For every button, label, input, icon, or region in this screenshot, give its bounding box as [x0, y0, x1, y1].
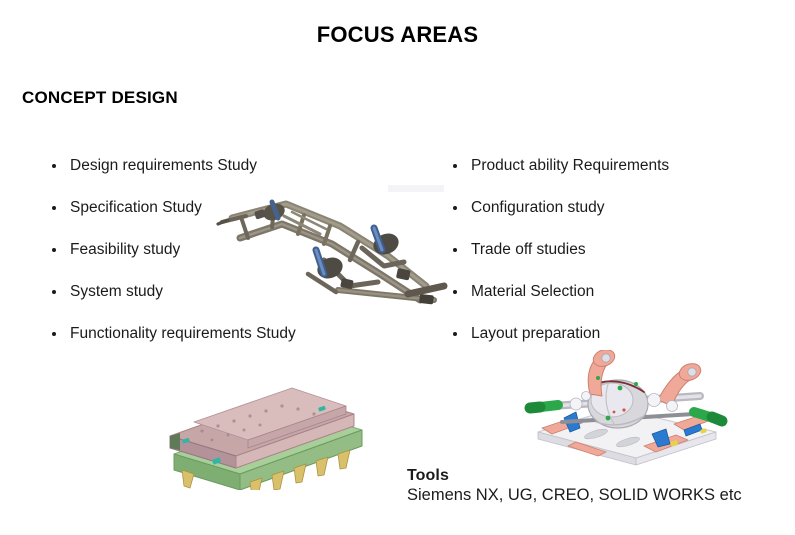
- list-item-label: Feasibility study: [70, 241, 180, 258]
- tools-heading: Tools: [407, 466, 742, 485]
- list-item-label: Trade off studies: [471, 241, 586, 258]
- vehicle-chassis-frame-photo: [212, 182, 456, 318]
- list-item-label: Design requirements Study: [70, 157, 257, 174]
- list-item: Trade off studies: [451, 240, 781, 282]
- list-item-label: Specification Study: [70, 199, 202, 216]
- cad-rail-fixture-render: [168, 378, 368, 490]
- list-item: Functionality requirements Study: [50, 324, 380, 366]
- list-item-label: Functionality requirements Study: [70, 325, 296, 342]
- bullet-dot-icon: [52, 206, 56, 210]
- list-item: Product ability Requirements: [451, 156, 781, 198]
- bullet-dot-icon: [52, 290, 56, 294]
- bullet-dot-icon: [52, 332, 56, 336]
- tools-caption: Tools Siemens NX, UG, CREO, SOLID WORKS …: [407, 466, 742, 506]
- bullet-list-right: Product ability Requirements Configurati…: [451, 156, 781, 366]
- list-item-label: Material Selection: [471, 283, 594, 300]
- list-item-label: Configuration study: [471, 199, 605, 216]
- bullet-dot-icon: [453, 164, 457, 168]
- section-heading-concept-design: CONCEPT DESIGN: [22, 88, 178, 108]
- list-item: Configuration study: [451, 198, 781, 240]
- slide-canvas: FOCUS AREAS CONCEPT DESIGN Design requir…: [0, 0, 795, 535]
- list-item-label: System study: [70, 283, 163, 300]
- bullet-dot-icon: [453, 332, 457, 336]
- tools-list: Siemens NX, UG, CREO, SOLID WORKS etc: [407, 485, 742, 506]
- bullet-dot-icon: [52, 164, 56, 168]
- cad-rear-axle-assembly-render: [524, 350, 730, 466]
- list-item-label: Product ability Requirements: [471, 157, 669, 174]
- list-item: Material Selection: [451, 282, 781, 324]
- list-item-label: Layout preparation: [471, 325, 600, 342]
- bullet-dot-icon: [52, 248, 56, 252]
- page-title: FOCUS AREAS: [0, 22, 795, 48]
